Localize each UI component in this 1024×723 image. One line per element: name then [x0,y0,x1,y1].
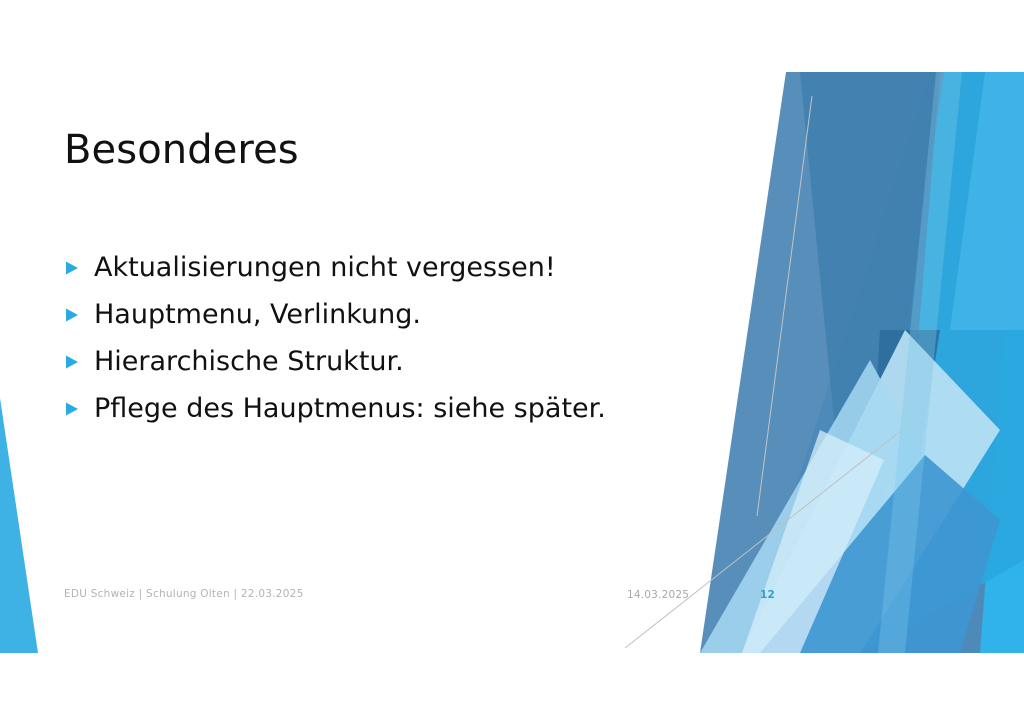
art-shape-highlight-band [950,72,1024,330]
hairline-diagonal-lower [625,430,902,648]
footer-date: 14.03.2025 [627,588,689,602]
art-shape-cyan-column [862,72,1024,653]
art-shape-pale-sheet [742,330,1000,653]
list-item-label: Hierarchische Struktur. [94,345,754,378]
art-shape-navy-wedge [800,72,940,500]
list-item-label: Aktualisierungen nicht vergessen! [94,251,754,284]
art-shape-navy-core [874,330,940,470]
triangle-right-bullet-icon [64,307,82,323]
list-item-label: Pflege des Hauptmenus: siehe später. [94,392,754,425]
bullet-list: Aktualisierungen nicht vergessen! Hauptm… [64,251,754,439]
hairline-diagonal-upper [757,96,812,516]
slide-canvas: Besonderes Aktualisierungen nicht verges… [0,0,1024,723]
footer-page-number: 12 [760,588,775,602]
art-shape-medium-lower [760,455,1000,653]
list-item-label: Hauptmenu, Verlinkung. [94,298,754,331]
slide-title: Besonderes [64,126,704,174]
art-shape-streak [878,72,962,653]
triangle-right-bullet-icon [64,401,82,417]
left-accent-triangle [0,398,38,653]
list-item: Aktualisierungen nicht vergessen! [64,251,754,298]
triangle-right-bullet-icon [64,354,82,370]
art-shape-mist [742,430,884,653]
list-item: Pflege des Hauptmenus: siehe später. [64,392,754,439]
art-shape-right-bright [742,72,1024,653]
triangle-right-bullet-icon [64,260,82,276]
list-item: Hierarchische Struktur. [64,345,754,392]
footer-left-text: EDU Schweiz | Schulung Olten | 22.03.202… [64,587,304,601]
list-item: Hauptmenu, Verlinkung. [64,298,754,345]
